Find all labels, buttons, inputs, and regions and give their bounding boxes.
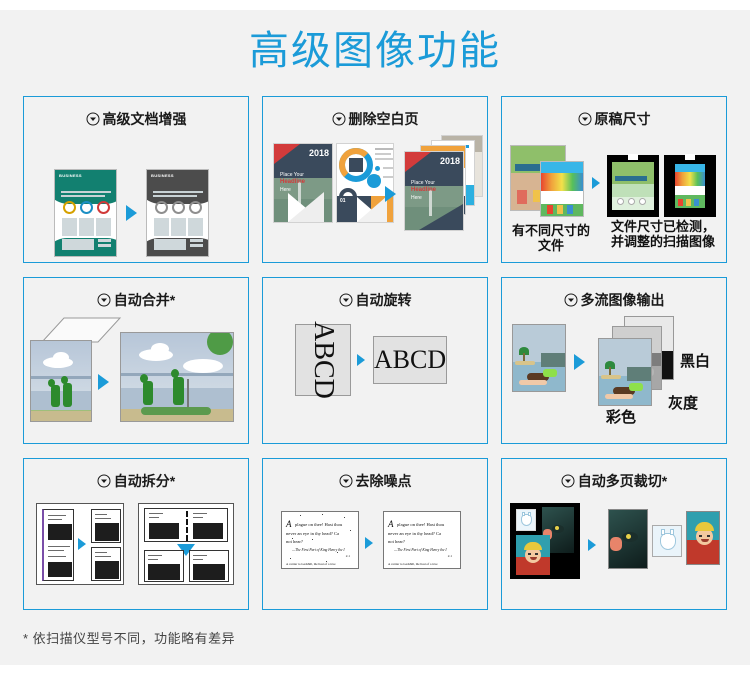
split-arrow-right xyxy=(78,538,86,550)
scene-half xyxy=(30,340,92,422)
feature-row-2: 自动合并* xyxy=(23,277,727,444)
scan-result-2 xyxy=(664,155,716,217)
poster-line1-2: Place Your xyxy=(411,180,435,186)
line2-noisy: never an eye in thy head? Ca xyxy=(286,531,339,536)
scene-merged xyxy=(120,332,234,422)
output-color xyxy=(598,338,652,406)
transform-arrow-2 xyxy=(385,186,396,202)
poster-year-2: 2018 xyxy=(440,156,460,166)
scanbed-multi-photo xyxy=(510,503,580,579)
card-title-3: 原稿尺寸 xyxy=(502,110,726,128)
card-title-1-text: 高级文档增强 xyxy=(103,111,187,127)
card-title-3-text: 原稿尺寸 xyxy=(595,111,651,127)
document-pair: BUSINESS xyxy=(54,169,209,257)
page-rotated: ABCD xyxy=(295,324,351,396)
poster-2018-left: 2018 Place Your Headline Here xyxy=(273,143,333,223)
cropped-dark-bird xyxy=(608,509,648,569)
doc-header-label-2: BUSINESS xyxy=(151,173,174,178)
doc-header-label: BUSINESS xyxy=(59,173,82,178)
transform-arrow-8 xyxy=(365,537,373,549)
line1-noisy: plague on thee! Hast thou xyxy=(295,522,342,527)
text-page-noisy: A plague on thee! Hast thou never an eye… xyxy=(281,511,359,569)
drop-cap-noisy: A xyxy=(286,519,292,529)
card-title-5-text: 自动旋转 xyxy=(356,292,412,308)
card-5-illustration: ABCD ABCD xyxy=(263,312,487,442)
card-title-2-text: 删除空白页 xyxy=(349,111,419,127)
circled-chevron-down-icon xyxy=(564,293,578,307)
circled-chevron-down-icon xyxy=(86,112,100,126)
transform-arrow-6 xyxy=(574,354,585,370)
card-title-7: 自动拆分* xyxy=(24,472,248,490)
poster-line1: Place Your xyxy=(280,172,304,178)
split-group-vertical xyxy=(36,503,124,585)
card-auto-multi-crop[interactable]: 自动多页裁切* xyxy=(501,458,727,610)
card-auto-merge[interactable]: 自动合并* xyxy=(23,277,249,444)
split-source-tall xyxy=(42,509,74,581)
circled-chevron-down-icon xyxy=(339,474,353,488)
act-noisy: 2.1 xyxy=(346,554,350,558)
card-3-illustration: 有不同尺寸的 文件 文件尺寸已检测， 并调整的扫描图像 xyxy=(502,131,726,261)
card-despeckle[interactable]: 去除噪点 A plague on thee! Hast t xyxy=(262,458,488,610)
card-1-illustration: BUSINESS xyxy=(24,131,248,261)
page-upright: ABCD xyxy=(373,336,447,384)
page-root: 高级图像功能 高级文档增强 BUSINESS xyxy=(0,0,750,695)
label-color: 彩色 xyxy=(606,410,636,425)
footer-noisy: A carrier to Gadshill, the host of a tav… xyxy=(286,562,335,566)
photo-portrait-on-bed xyxy=(516,535,550,575)
transform-arrow-4 xyxy=(98,374,109,390)
split-result-top xyxy=(91,509,121,543)
abcd-upright-text: ABCD xyxy=(374,345,446,375)
feature-row-1: 高级文档增强 BUSINESS xyxy=(23,96,727,263)
card-advanced-document-enhancement[interactable]: 高级文档增强 BUSINESS xyxy=(23,96,249,263)
circled-chevron-down-icon xyxy=(339,293,353,307)
circled-chevron-down-icon xyxy=(332,112,346,126)
card-title-6: 多流图像输出 xyxy=(502,291,726,309)
circled-chevron-down-icon xyxy=(561,474,575,488)
card-2-illustration: 2018 Place Your Headline Here xyxy=(263,131,487,261)
card-7-illustration xyxy=(24,493,248,610)
line3-clean: not hear? xyxy=(388,539,405,544)
document-original: BUSINESS xyxy=(54,169,117,257)
card-title-8: 去除噪点 xyxy=(263,472,487,490)
poster-line3-2: Here xyxy=(411,195,422,201)
transform-arrow xyxy=(126,205,137,221)
card-delete-blank-pages[interactable]: 删除空白页 2018 Place Your Headline Here xyxy=(262,96,488,263)
source-color-image xyxy=(512,324,566,392)
act-clean: 2.1 xyxy=(448,554,452,558)
poster-line2: Headline xyxy=(280,179,305,185)
card-auto-split[interactable]: 自动拆分* xyxy=(23,458,249,610)
poster-stack-front-2018: 2018 Place Your Headline Here xyxy=(404,151,464,231)
poster-infographic: 01 xyxy=(336,143,394,223)
card-6-illustration: 黑白 灰度 彩色 xyxy=(502,312,726,442)
original-medium-doc xyxy=(540,161,584,217)
footnote: * 依扫描仪型号不同，功能略有差异 xyxy=(23,628,235,647)
label-grayscale: 灰度 xyxy=(668,396,698,411)
card-title-5: 自动旋转 xyxy=(263,291,487,309)
card-title-2: 删除空白页 xyxy=(263,110,487,128)
photo-cat-on-bed xyxy=(516,509,536,531)
card-title-1: 高级文档增强 xyxy=(24,110,248,128)
card-title-9-text: 自动多页裁切* xyxy=(578,473,667,489)
label-black-white: 黑白 xyxy=(680,354,710,369)
split-result-bottom xyxy=(91,547,121,581)
poster-line2-2: Headline xyxy=(411,187,436,193)
attribution-noisy: —The First Part of King Henry the I xyxy=(292,548,345,552)
card-title-8-text: 去除噪点 xyxy=(356,473,412,489)
poster-year: 2018 xyxy=(309,148,329,158)
transform-arrow-5 xyxy=(357,354,365,366)
split-result-right xyxy=(189,550,229,582)
circled-chevron-down-icon xyxy=(578,112,592,126)
text-page-clean: A plague on thee! Hast thou never an eye… xyxy=(383,511,461,569)
card-title-6-text: 多流图像输出 xyxy=(581,292,665,308)
footer-clean: A carrier to Gadshill, the host of a tav… xyxy=(388,562,437,566)
document-enhanced: BUSINESS xyxy=(146,169,209,257)
line3-noisy: not hear? xyxy=(286,539,303,544)
cropped-portrait xyxy=(686,511,720,565)
drop-cap-clean: A xyxy=(388,519,394,529)
caption-detected-sizes: 文件尺寸已检测， 并调整的扫描图像 xyxy=(604,219,722,249)
card-title-4-text: 自动合并* xyxy=(114,292,175,308)
scan-result-1 xyxy=(607,155,659,217)
line1-clean: plague on thee! Hast thou xyxy=(397,522,444,527)
split-group-horizontal xyxy=(138,503,234,585)
transform-arrow-3 xyxy=(592,177,600,189)
circled-chevron-down-icon xyxy=(97,474,111,488)
card-title-7-text: 自动拆分* xyxy=(114,473,175,489)
line2-clean: never an eye in thy head? Ca xyxy=(388,531,441,536)
card-title-4: 自动合并* xyxy=(24,291,248,309)
split-result-left xyxy=(144,550,184,582)
card-8-illustration: A plague on thee! Hast thou never an eye… xyxy=(263,493,487,610)
caption-mixed-sizes: 有不同尺寸的 文件 xyxy=(506,223,596,253)
card-auto-rotate[interactable]: 自动旋转 ABCD ABCD xyxy=(262,277,488,444)
card-4-illustration xyxy=(24,312,248,442)
circled-chevron-down-icon xyxy=(97,293,111,307)
split-source-wide xyxy=(144,508,228,542)
transform-arrow-9 xyxy=(588,539,596,551)
card-multi-stream-output[interactable]: 多流图像输出 xyxy=(501,277,727,444)
attribution-clean: —The First Part of King Henry the I xyxy=(394,548,447,552)
cropped-cat xyxy=(652,525,682,557)
feature-row-3: 自动拆分* xyxy=(23,458,727,610)
page-title: 高级图像功能 xyxy=(0,26,750,76)
card-original-size[interactable]: 原稿尺寸 xyxy=(501,96,727,263)
card-title-9: 自动多页裁切* xyxy=(502,472,726,490)
card-9-illustration xyxy=(502,493,726,610)
abcd-rotated-text: ABCD xyxy=(307,321,339,399)
feature-grid: 高级文档增强 BUSINESS xyxy=(23,96,727,624)
